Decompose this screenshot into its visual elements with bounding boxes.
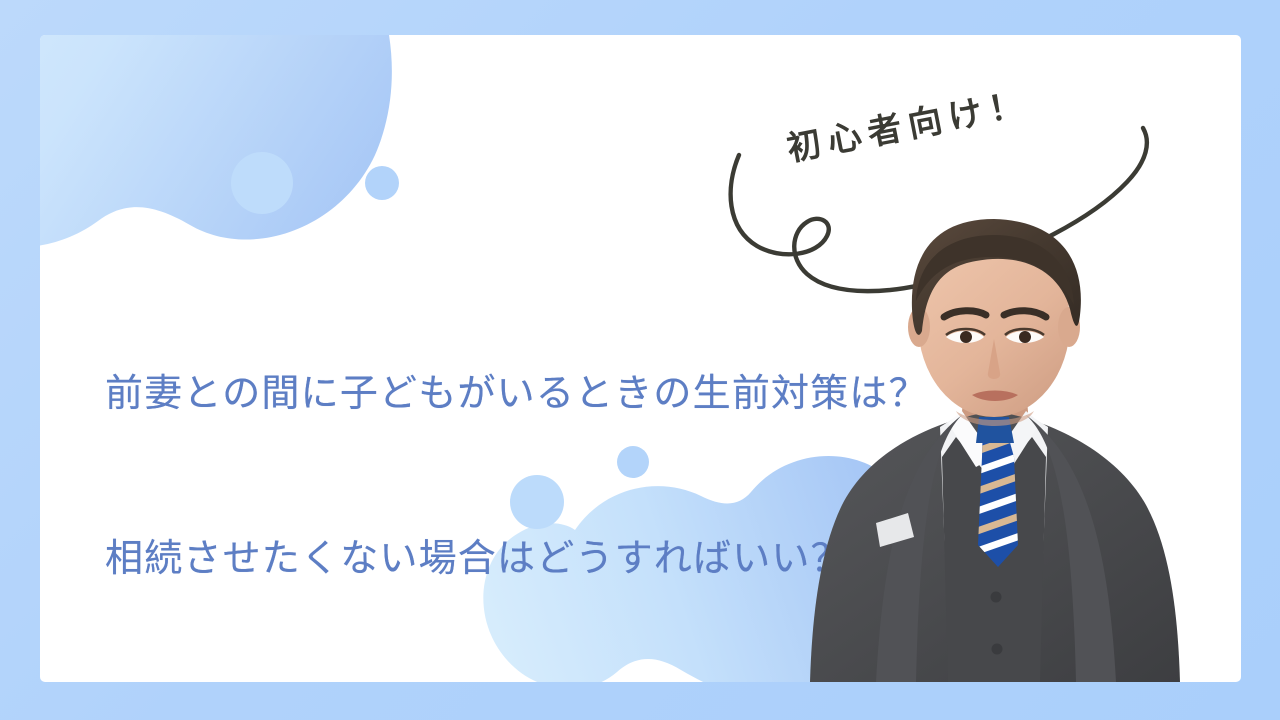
pupil-right <box>1019 331 1031 343</box>
blob-dot-large <box>231 152 293 214</box>
pupil-left <box>960 331 972 343</box>
vest-button <box>992 644 1003 655</box>
blob-dot-small <box>365 166 399 200</box>
slide-canvas: 初心者向け！ 前妻との間に子どもがいるときの生前対策は？ 相続させたくない場合は… <box>0 0 1280 720</box>
vest-button <box>991 592 1002 603</box>
white-content-card: 初心者向け！ 前妻との間に子どもがいるときの生前対策は？ 相続させたくない場合は… <box>40 35 1241 682</box>
portrait-photo <box>780 205 1210 682</box>
